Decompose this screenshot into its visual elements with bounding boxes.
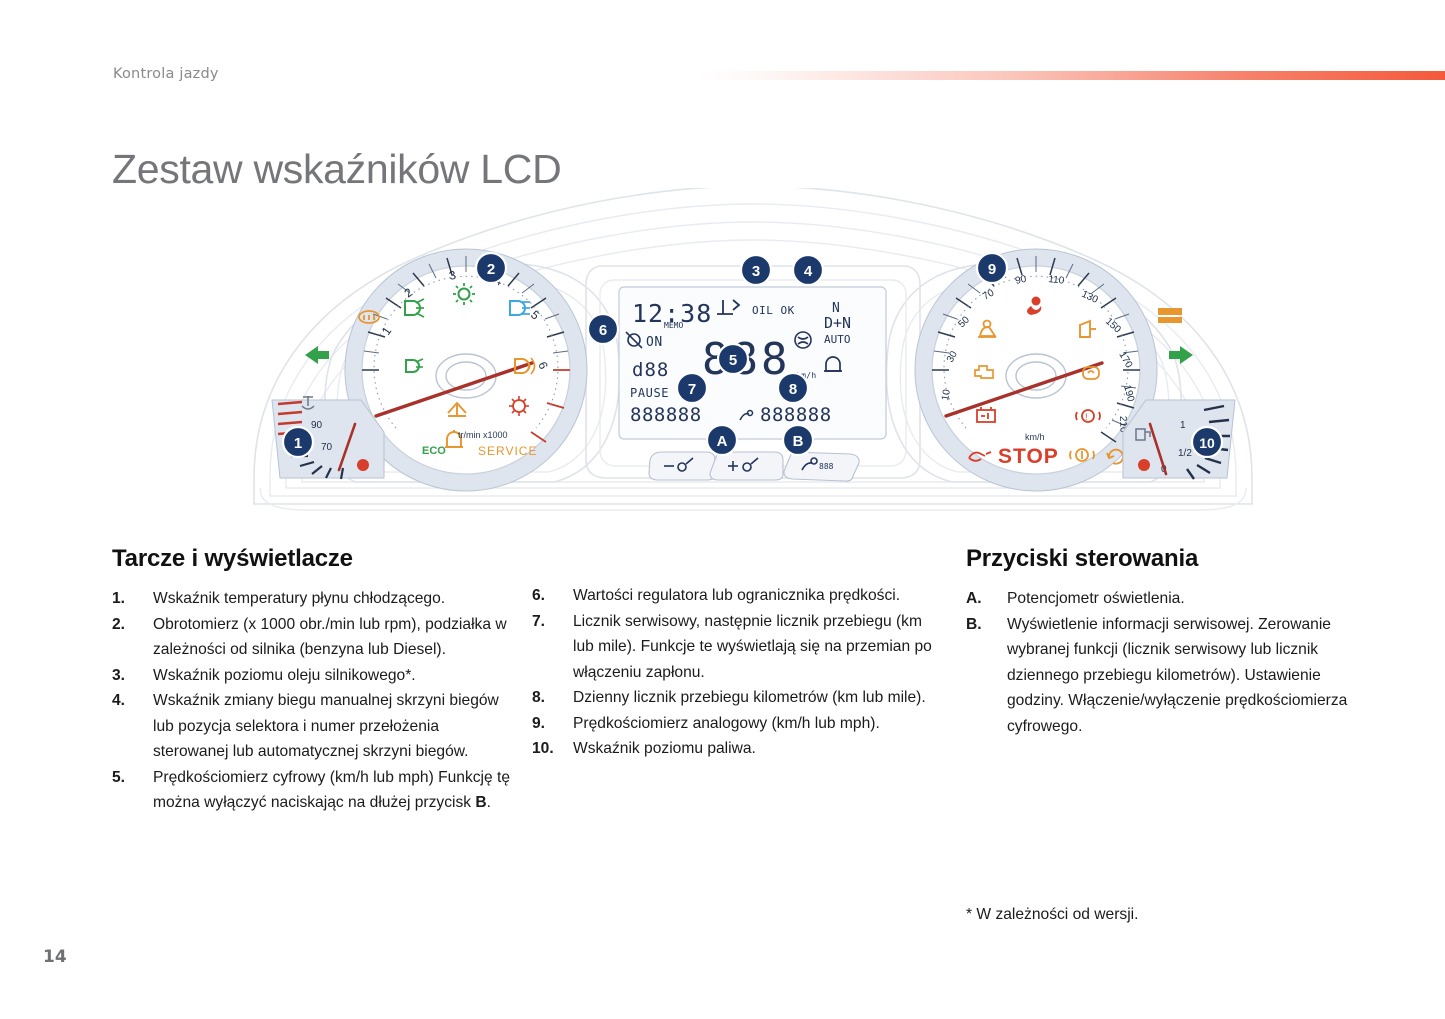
list-item: 1. Wskaźnik temperatury płynu chłodząceg… xyxy=(112,586,512,612)
speedo-unit-label: km/h xyxy=(1025,432,1045,442)
lcd-odometer: 888888 xyxy=(630,404,702,426)
callout-badge-a: A xyxy=(707,425,737,455)
list-marker: 3. xyxy=(112,663,145,689)
controls-list: A. Potencjometr oświetlenia. B. Wyświetl… xyxy=(966,586,1378,739)
callout-badge-6: 6 xyxy=(588,314,618,344)
left-turn-arrow-icon xyxy=(305,346,329,364)
list-item: 4. Wskaźnik zmiany biegu manualnej skrzy… xyxy=(112,688,512,765)
svg-text:1: 1 xyxy=(1180,420,1186,431)
list-item: 3. Wskaźnik poziomu oleju silnikowego*. xyxy=(112,663,512,689)
section-title-controls: Przyciski sterowania xyxy=(966,545,1378,573)
section-dials-left: Tarcze i wyświetlacze 1. Wskaźnik temper… xyxy=(112,545,512,816)
svg-text:70: 70 xyxy=(321,442,333,453)
lcd-drive: D+N xyxy=(824,314,851,332)
lcd-small-digits: d88 xyxy=(632,359,669,381)
list-marker: 4. xyxy=(112,688,145,714)
list-marker: 1. xyxy=(112,586,145,612)
list-text: Wskaźnik poziomu oleju silnikowego*. xyxy=(153,663,512,689)
svg-text:2: 2 xyxy=(487,261,495,278)
dials-list-left: 1. Wskaźnik temperatury płynu chłodząceg… xyxy=(112,586,512,816)
list-text: Prędkościomierz cyfrowy (km/h lub mph) F… xyxy=(153,765,512,816)
lcd-trip: 888888 xyxy=(760,404,832,426)
dials-list-right: 6. Wartości regulatora lub ogranicznika … xyxy=(532,583,944,762)
svg-text:90: 90 xyxy=(311,420,323,431)
callout-badge-1: 1 xyxy=(283,427,313,457)
list-item: 6. Wartości regulatora lub ogranicznika … xyxy=(532,583,944,609)
callout-badge-3: 3 xyxy=(741,255,771,285)
list-text: Prędkościomierz analogowy (km/h lub mph)… xyxy=(573,711,944,737)
section-title-dials: Tarcze i wyświetlacze xyxy=(112,545,512,573)
list-marker: 6. xyxy=(532,583,565,609)
svg-text:A: A xyxy=(717,433,728,450)
callout-badge-4: 4 xyxy=(793,255,823,285)
list-item: 2. Obrotomierz (x 1000 obr./min lub rpm)… xyxy=(112,612,512,663)
list-marker: 8. xyxy=(532,685,565,711)
list-item: 9. Prędkościomierz analogowy (km/h lub m… xyxy=(532,711,944,737)
page-number: 14 xyxy=(43,947,67,967)
central-lcd-display: 12:38 OIL OK N D+N AUTO ON MEMO d88 PAUS… xyxy=(619,287,886,481)
svg-text:8: 8 xyxy=(789,381,797,398)
svg-text:110: 110 xyxy=(1048,274,1065,287)
svg-text:!: ! xyxy=(1085,412,1088,422)
list-marker: A. xyxy=(966,586,999,612)
list-text: Licznik serwisowy, następnie licznik prz… xyxy=(573,609,944,686)
list-item: 10. Wskaźnik poziomu paliwa. xyxy=(532,736,944,762)
breadcrumb: Kontrola jazdy xyxy=(113,66,219,82)
callout-badge-b: B xyxy=(783,425,813,455)
list-text: Wskaźnik poziomu paliwa. xyxy=(573,736,944,762)
svg-text:1: 1 xyxy=(294,435,302,452)
list-text: Dzienny licznik przebiegu kilometrów (km… xyxy=(573,685,944,711)
list-text: Wyświetlenie informacji serwisowej. Zero… xyxy=(1007,612,1378,740)
lcd-oil-ok: OIL OK xyxy=(752,304,795,317)
lcd-buttons: 888 xyxy=(649,452,859,481)
svg-text:1/2: 1/2 xyxy=(1178,448,1192,459)
svg-text:4: 4 xyxy=(804,263,813,280)
tacho-unit-label: tr/min x1000 xyxy=(458,430,508,440)
svg-text:3: 3 xyxy=(752,263,760,280)
list-text: Obrotomierz (x 1000 obr./min lub rpm), p… xyxy=(153,612,512,663)
list-item: 5. Prędkościomierz cyfrowy (km/h lub mph… xyxy=(112,765,512,816)
list-item: A. Potencjometr oświetlenia. xyxy=(966,586,1378,612)
lcd-on: ON xyxy=(646,335,663,350)
list-item: B. Wyświetlenie informacji serwisowej. Z… xyxy=(966,612,1378,740)
svg-text:B: B xyxy=(793,433,804,450)
callout-badge-9: 9 xyxy=(977,253,1007,283)
list-marker: 5. xyxy=(112,765,145,791)
stop-label: STOP xyxy=(998,445,1059,468)
list-marker: 10. xyxy=(532,736,568,762)
list-item: 7. Licznik serwisowy, następnie licznik … xyxy=(532,609,944,686)
svg-text:888: 888 xyxy=(819,462,834,471)
svg-text:9: 9 xyxy=(988,261,996,278)
list-text: Wskaźnik zmiany biegu manualnej skrzyni … xyxy=(153,688,512,765)
svg-text:7: 7 xyxy=(688,381,696,398)
section-dials-right: 6. Wartości regulatora lub ogranicznika … xyxy=(532,583,944,762)
list-marker: 9. xyxy=(532,711,565,737)
instrument-cluster-figure: .o{fill:none;stroke:#dfe3ea;stroke-width… xyxy=(236,188,1271,518)
page-title: Zestaw wskaźników LCD xyxy=(112,146,561,193)
callout-badge-7: 7 xyxy=(677,373,707,403)
abs-warning-icon xyxy=(1158,308,1182,323)
manual-page: Kontrola jazdy Zestaw wskaźników LCD .o{… xyxy=(0,0,1445,1019)
lcd-auto: AUTO xyxy=(824,333,851,346)
callout-badge-8: 8 xyxy=(778,373,808,403)
orange-gradient-rule xyxy=(700,71,1445,80)
section-controls: Przyciski sterowania A. Potencjometr ośw… xyxy=(966,545,1378,739)
footnote: * W zależności od wersji. xyxy=(966,906,1138,924)
svg-text:5: 5 xyxy=(729,352,737,369)
callout-badge-5: 5 xyxy=(718,344,748,374)
svg-text:6: 6 xyxy=(599,322,607,339)
svg-text:10: 10 xyxy=(1199,435,1215,451)
list-marker: 2. xyxy=(112,612,145,638)
eco-label: ECO xyxy=(422,445,446,457)
list-item: 8. Dzienny licznik przebiegu kilometrów … xyxy=(532,685,944,711)
list-marker: 7. xyxy=(532,609,565,635)
list-text: Wartości regulatora lub ogranicznika prę… xyxy=(573,583,944,609)
list-marker: B. xyxy=(966,612,999,638)
list-text: Wskaźnik temperatury płynu chłodzącego. xyxy=(153,586,512,612)
service-label: SERVICE xyxy=(478,444,537,458)
lcd-memo: MEMO xyxy=(664,321,683,330)
callout-badge-10: 10 xyxy=(1192,427,1222,457)
lcd-pause: PAUSE xyxy=(630,386,669,400)
speedometer-dial: 10 30 50 70 90 110 130 150 170 190 210 xyxy=(915,249,1157,491)
list-text: Potencjometr oświetlenia. xyxy=(1007,586,1378,612)
callout-badge-2: 2 xyxy=(476,253,506,283)
